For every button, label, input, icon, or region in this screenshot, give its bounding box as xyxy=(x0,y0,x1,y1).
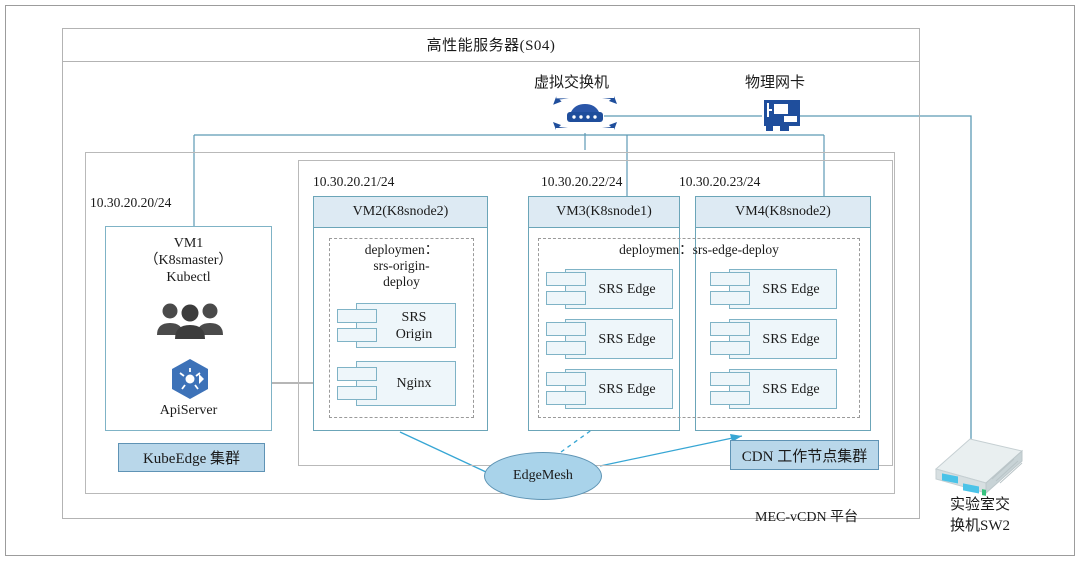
vm1-name: VM1 xyxy=(106,235,271,252)
apiserver-hex-icon xyxy=(168,357,212,401)
pod-srs-edge[interactable]: SRS Edge xyxy=(565,319,673,359)
vm4-title: VM4(K8snode2) xyxy=(696,197,870,228)
cdn-cluster-chip[interactable]: CDN 工作节点集群 xyxy=(730,440,879,470)
pod-icon xyxy=(546,322,586,356)
pod-srs-edge[interactable]: SRS Edge xyxy=(565,269,673,309)
lab-switch-label: 实验室交 换机SW2 xyxy=(935,495,1025,537)
pod-nginx[interactable]: Nginx xyxy=(356,361,456,406)
vm1-box[interactable]: VM1 （K8smaster） Kubectl xyxy=(105,226,272,431)
diagram-canvas: 高性能服务器(S04) MEC-vCDN 平台 虚拟交换机 物理网卡 xyxy=(0,0,1080,561)
kubeedge-cluster-chip[interactable]: KubeEdge 集群 xyxy=(118,443,265,472)
users-group-icon xyxy=(154,301,226,339)
vm2-deployment-label: deploymen： srs-origin- deploy xyxy=(330,239,473,290)
pod-icon xyxy=(337,367,377,401)
ip-label-vm4: 10.30.20.23/24 xyxy=(679,174,760,190)
pod-icon xyxy=(710,322,750,356)
server-title: 高性能服务器(S04) xyxy=(427,34,556,55)
platform-label: MEC-vCDN 平台 xyxy=(755,506,858,526)
pod-icon xyxy=(546,372,586,406)
edgemesh-node[interactable]: EdgeMesh xyxy=(484,452,602,500)
vm2-title: VM2(K8snode2) xyxy=(314,197,487,228)
pod-icon xyxy=(710,272,750,306)
pod-srs-edge[interactable]: SRS Edge xyxy=(729,319,837,359)
pod-srs-edge[interactable]: SRS Edge xyxy=(729,369,837,409)
nic-label: 物理网卡 xyxy=(745,71,805,92)
vm2-deployment-box: deploymen： srs-origin- deploy SRS Origin… xyxy=(329,238,474,418)
edge-deployment-label: deploymen：srs-edge-deploy xyxy=(539,239,859,258)
pod-icon xyxy=(546,272,586,306)
ip-label-vm2: 10.30.20.21/24 xyxy=(313,174,394,190)
pod-icon xyxy=(337,309,377,343)
vm3-title: VM3(K8snode1) xyxy=(529,197,679,228)
edge-deployment-box: deploymen：srs-edge-deploy SRS Edge SRS E… xyxy=(538,238,860,418)
server-header: 高性能服务器(S04) xyxy=(62,28,920,62)
lab-switch-icon xyxy=(930,437,1026,499)
pod-srs-edge[interactable]: SRS Edge xyxy=(729,269,837,309)
vm1-role: （K8smaster） xyxy=(106,252,271,269)
pod-icon xyxy=(710,372,750,406)
ip-label-vm3: 10.30.20.22/24 xyxy=(541,174,622,190)
pod-srs-edge[interactable]: SRS Edge xyxy=(565,369,673,409)
ip-label-vm1: 10.30.20.20/24 xyxy=(90,195,171,211)
virtual-switch-icon xyxy=(551,92,619,134)
network-card-icon xyxy=(760,96,804,136)
apiserver-label: ApiServer xyxy=(106,403,271,419)
pod-srs-origin[interactable]: SRS Origin xyxy=(356,303,456,348)
vswitch-label: 虚拟交换机 xyxy=(534,71,609,92)
vm1-tool: Kubectl xyxy=(106,269,271,286)
